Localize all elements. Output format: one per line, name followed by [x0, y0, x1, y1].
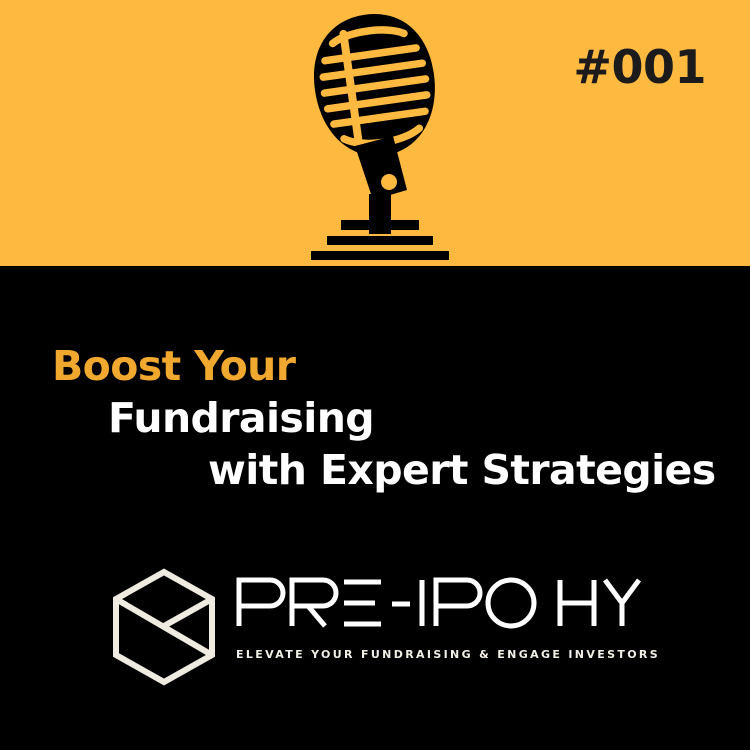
- hero-band: #001: [0, 0, 750, 266]
- episode-number-badge: #001: [573, 44, 706, 90]
- page-title: Boost Your Fundraising with Expert Strat…: [0, 340, 750, 496]
- title-line-3: with Expert Strategies: [0, 444, 750, 496]
- brand-logo-text: ELEVATE YOUR FUNDRAISING & ENGAGE INVEST…: [234, 574, 654, 680]
- brand-logo-lockup: ELEVATE YOUR FUNDRAISING & ENGAGE INVEST…: [108, 568, 653, 686]
- vintage-microphone-icon: [285, 8, 465, 260]
- podcast-cover-poster: #001 Boost Your Fundraising with Expert …: [0, 0, 750, 750]
- hexagon-monogram-icon: [108, 568, 220, 686]
- brand-tagline: ELEVATE YOUR FUNDRAISING & ENGAGE INVEST…: [236, 648, 660, 661]
- brand-wordmark: [234, 574, 654, 630]
- title-line-2: Fundraising: [0, 392, 750, 444]
- title-line-1: Boost Your: [0, 340, 750, 392]
